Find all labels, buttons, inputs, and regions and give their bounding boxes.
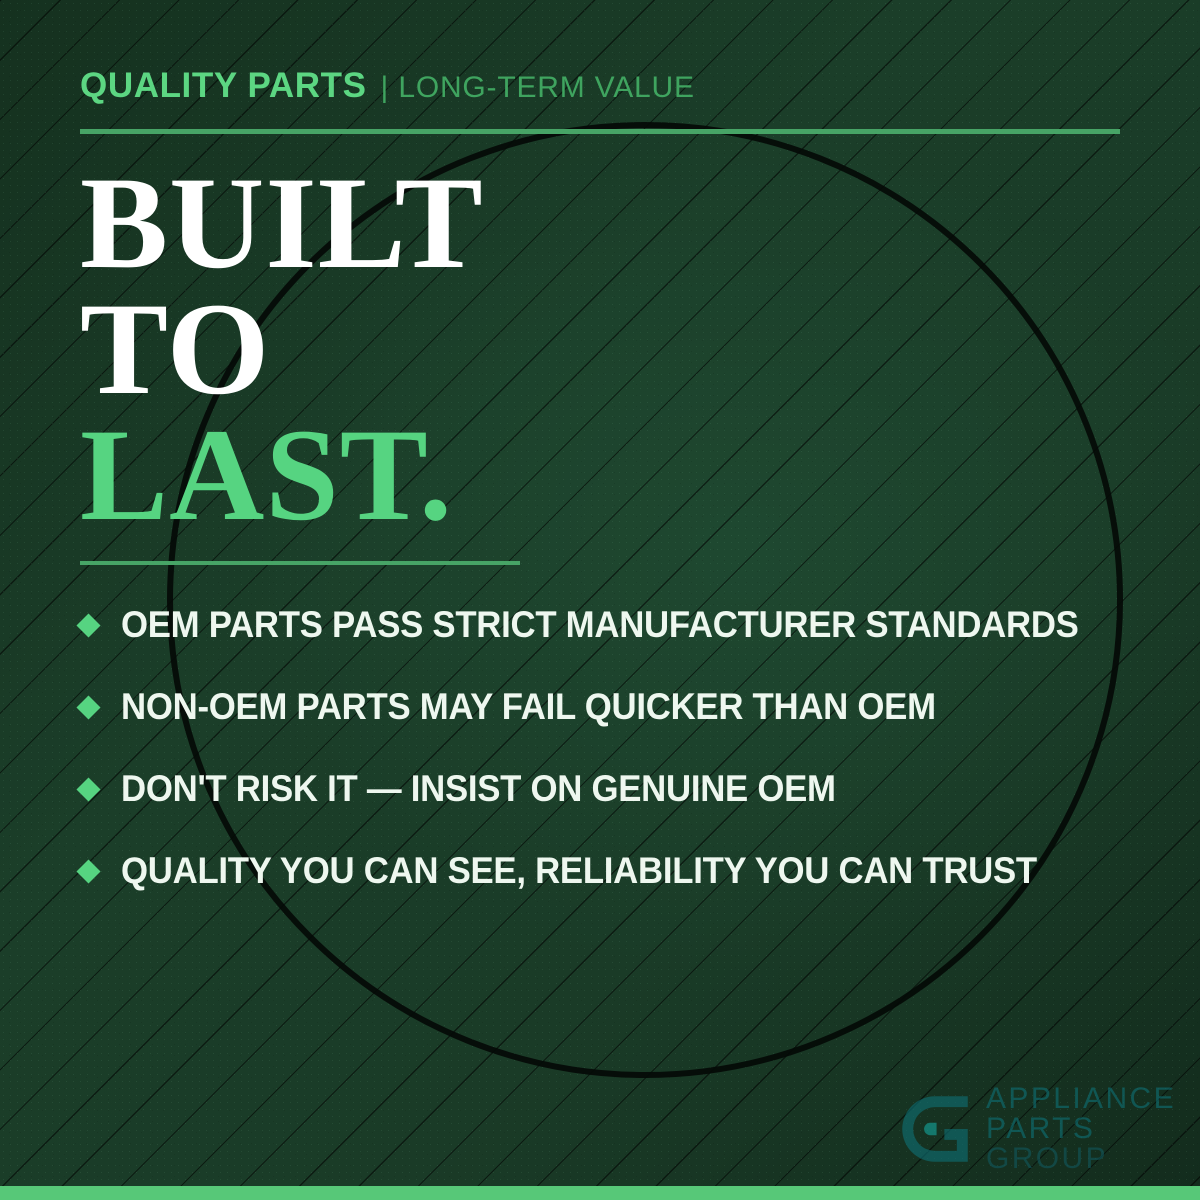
diamond-icon	[76, 695, 100, 719]
poster-canvas: QUALITY PARTS | LONG-TERM VALUE BUILT TO…	[0, 0, 1200, 1200]
list-item: OEM PARTS PASS STRICT MANUFACTURER STAND…	[80, 584, 1140, 666]
brand-line-1: APPLIANCE	[986, 1084, 1176, 1114]
kicker-sub-label: LONG-TERM VALUE	[398, 71, 695, 105]
headline-line-3: LAST.	[80, 412, 484, 538]
headline-divider-rule	[80, 561, 520, 565]
list-item-label: OEM PARTS PASS STRICT MANUFACTURER STAND…	[121, 604, 1079, 646]
list-item: NON-OEM PARTS MAY FAIL QUICKER THAN OEM	[80, 666, 1140, 748]
g-monogram-icon	[896, 1090, 974, 1168]
list-item-label: DON'T RISK IT — INSIST ON GENUINE OEM	[121, 768, 836, 810]
header-kicker: QUALITY PARTS | LONG-TERM VALUE	[80, 66, 1120, 106]
brand-line-3: GROUP	[986, 1144, 1176, 1174]
list-item: DON'T RISK IT — INSIST ON GENUINE OEM	[80, 748, 1140, 830]
kicker-separator: |	[381, 71, 389, 105]
headline-block: BUILT TO LAST.	[80, 160, 484, 538]
list-item: QUALITY YOU CAN SEE, RELIABILITY YOU CAN…	[80, 830, 1140, 912]
list-item-label: QUALITY YOU CAN SEE, RELIABILITY YOU CAN…	[121, 850, 1037, 892]
brand-line-2: PARTS	[986, 1114, 1176, 1144]
brand-logo: APPLIANCE PARTS GROUP	[896, 1084, 1176, 1174]
diamond-icon	[76, 613, 100, 637]
headline-line-2: TO	[80, 286, 484, 412]
bottom-accent-bar	[0, 1186, 1200, 1200]
header-divider-rule	[80, 129, 1120, 134]
kicker-main-label: QUALITY PARTS	[80, 66, 367, 106]
list-item-label: NON-OEM PARTS MAY FAIL QUICKER THAN OEM	[121, 686, 936, 728]
brand-logo-wordmark: APPLIANCE PARTS GROUP	[986, 1084, 1176, 1174]
headline-line-1: BUILT	[80, 160, 484, 286]
diamond-icon	[76, 777, 100, 801]
diamond-icon	[76, 859, 100, 883]
bullet-list: OEM PARTS PASS STRICT MANUFACTURER STAND…	[80, 584, 1140, 912]
